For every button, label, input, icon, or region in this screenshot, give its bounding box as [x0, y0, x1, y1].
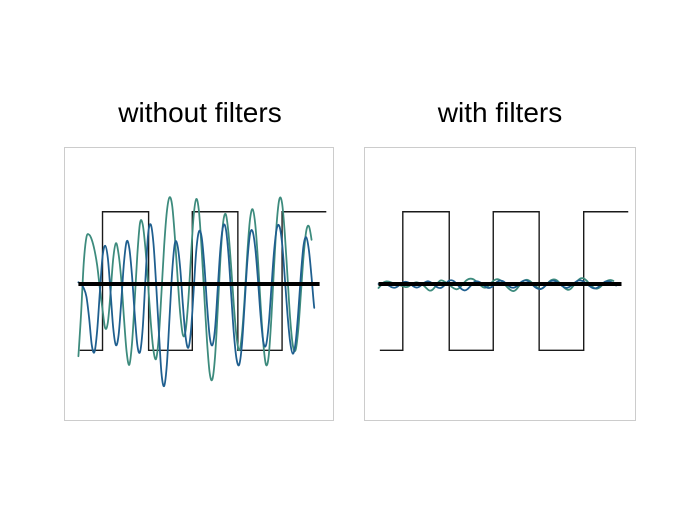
plot-area-without-filters [65, 148, 333, 420]
panel-title-with-filters: with filters [364, 99, 636, 127]
plot-panel-without-filters [64, 147, 334, 421]
panel-title-without-filters: without filters [65, 99, 335, 127]
figure-canvas: without filters with filters [0, 0, 700, 530]
plot-panel-with-filters [364, 147, 636, 421]
plot-area-with-filters [365, 148, 635, 420]
green-signal-unfiltered-trace [78, 197, 311, 380]
